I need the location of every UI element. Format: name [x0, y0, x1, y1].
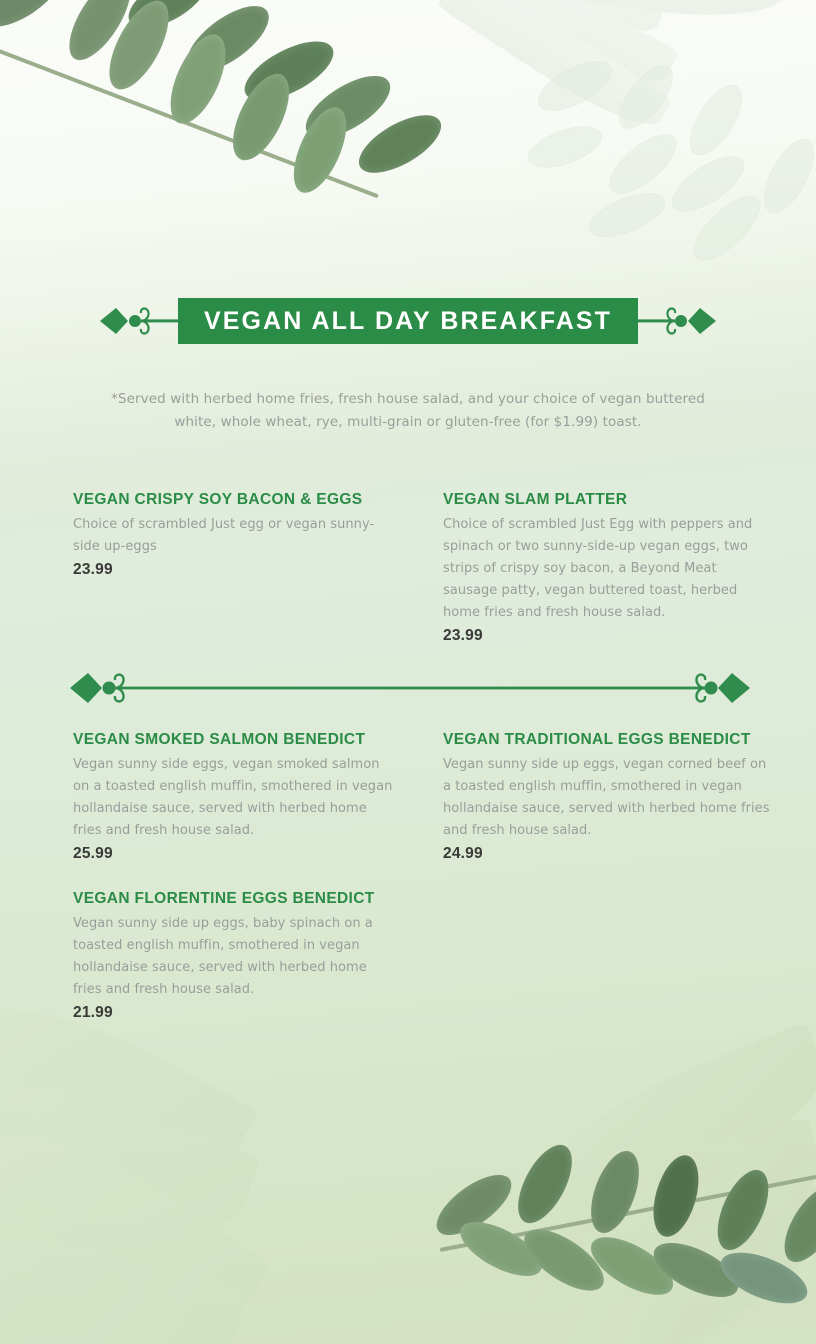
- menu-item-description: Choice of scrambled Just Egg with pepper…: [443, 514, 770, 624]
- menu-page: VEGAN ALL DAY BREAKFAST *Served with her…: [0, 0, 816, 1344]
- menu-item-price: 25.99: [73, 845, 395, 863]
- leaf-sprig-top-left: [0, 0, 434, 216]
- ghost-foliage-bottom-right: [476, 1044, 816, 1344]
- menu-item-price: 23.99: [73, 561, 395, 579]
- page-title: VEGAN ALL DAY BREAKFAST: [204, 307, 612, 336]
- menu-item: VEGAN SMOKED SALMON BENEDICT Vegan sunny…: [73, 730, 395, 863]
- menu-item-price: 21.99: [73, 1004, 395, 1022]
- ghost-foliage-top-right: [516, 0, 816, 260]
- menu-item-name: VEGAN TRADITIONAL EGGS BENEDICT: [443, 730, 770, 749]
- menu-column-right: VEGAN SLAM PLATTER Choice of scrambled J…: [443, 490, 770, 671]
- menu-item-name: VEGAN CRISPY SOY BACON & EGGS: [73, 490, 395, 509]
- ghost-palm-frond-art: [356, 0, 776, 230]
- menu-column-right: VEGAN TRADITIONAL EGGS BENEDICT Vegan su…: [443, 730, 770, 1048]
- menu-item-price: 23.99: [443, 627, 770, 645]
- ornament-left-icon: [98, 300, 188, 342]
- title-banner-row: VEGAN ALL DAY BREAKFAST: [0, 296, 816, 346]
- section-divider: [68, 666, 752, 710]
- ornament-right-icon: [628, 300, 718, 342]
- menu-item-description: Vegan sunny side eggs, vegan smoked salm…: [73, 754, 395, 842]
- menu-item-description: Choice of scrambled Just egg or vegan su…: [73, 514, 395, 558]
- menu-column-left: VEGAN SMOKED SALMON BENEDICT Vegan sunny…: [73, 730, 443, 1048]
- leaf-sprig-bottom-right: [426, 1130, 816, 1344]
- ghost-foliage-bottom-left: [0, 1014, 330, 1344]
- menu-item-name: VEGAN SMOKED SALMON BENEDICT: [73, 730, 395, 749]
- menu-item-name: VEGAN FLORENTINE EGGS BENEDICT: [73, 889, 395, 908]
- menu-item: VEGAN CRISPY SOY BACON & EGGS Choice of …: [73, 490, 395, 579]
- menu-block-two: VEGAN SMOKED SALMON BENEDICT Vegan sunny…: [0, 730, 816, 1048]
- menu-block-one: VEGAN CRISPY SOY BACON & EGGS Choice of …: [0, 490, 816, 671]
- menu-item: VEGAN FLORENTINE EGGS BENEDICT Vegan sun…: [73, 889, 395, 1022]
- menu-item-name: VEGAN SLAM PLATTER: [443, 490, 770, 509]
- menu-item: VEGAN SLAM PLATTER Choice of scrambled J…: [443, 490, 770, 645]
- menu-item: VEGAN TRADITIONAL EGGS BENEDICT Vegan su…: [443, 730, 770, 863]
- menu-column-left: VEGAN CRISPY SOY BACON & EGGS Choice of …: [73, 490, 443, 671]
- menu-item-description: Vegan sunny side up eggs, baby spinach o…: [73, 913, 395, 1001]
- menu-item-price: 24.99: [443, 845, 770, 863]
- serving-note: *Served with herbed home fries, fresh ho…: [98, 388, 718, 434]
- menu-title-banner: VEGAN ALL DAY BREAKFAST: [178, 298, 638, 344]
- menu-item-description: Vegan sunny side up eggs, vegan corned b…: [443, 754, 770, 842]
